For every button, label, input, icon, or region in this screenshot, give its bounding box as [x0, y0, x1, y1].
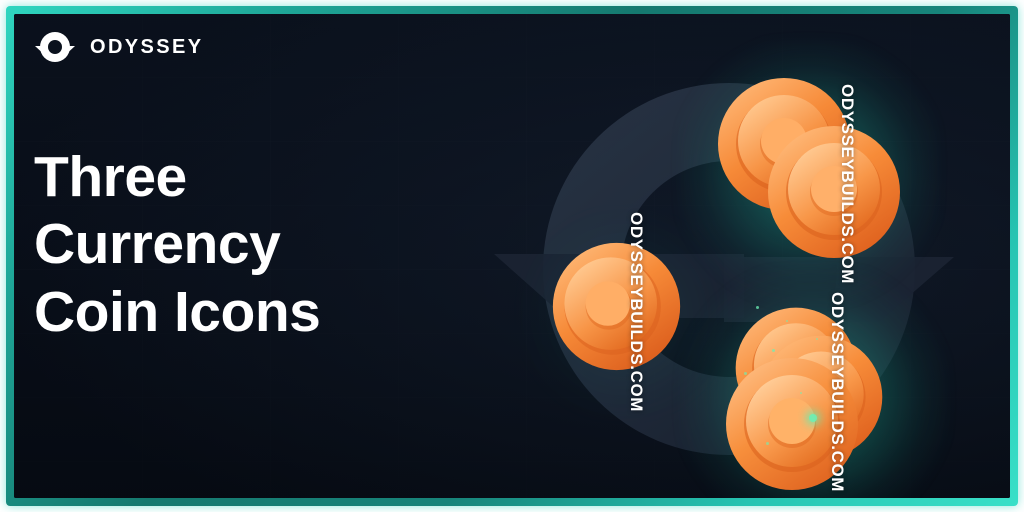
- coin-cluster-three-coins: [714, 304, 914, 494]
- coin-single: [549, 239, 699, 389]
- page-title-line-1: Three: [34, 144, 320, 211]
- page-title-line-2: Currency: [34, 211, 320, 278]
- coin-icon: [549, 239, 684, 374]
- watermark-middle: ODYSSEYBUILDS.COM: [626, 212, 646, 412]
- page-title: Three Currency Coin Icons: [34, 144, 320, 346]
- watermark-bottom-right: ODYSSEYBUILDS.COM: [827, 292, 847, 492]
- poster-stage: ODYSSEY Three Currency Coin Icons: [14, 14, 1010, 498]
- watermark-top-right: ODYSSEYBUILDS.COM: [837, 84, 857, 284]
- odyssey-ring-wings-icon: [34, 28, 76, 66]
- coin-cluster-two-coins: [714, 74, 904, 269]
- brand-name: ODYSSEY: [90, 37, 204, 57]
- poster-canvas: ODYSSEY Three Currency Coin Icons: [0, 0, 1024, 512]
- page-title-line-3: Coin Icons: [34, 279, 320, 346]
- coin-icon: [764, 122, 904, 262]
- brand-lockup[interactable]: ODYSSEY: [34, 28, 204, 66]
